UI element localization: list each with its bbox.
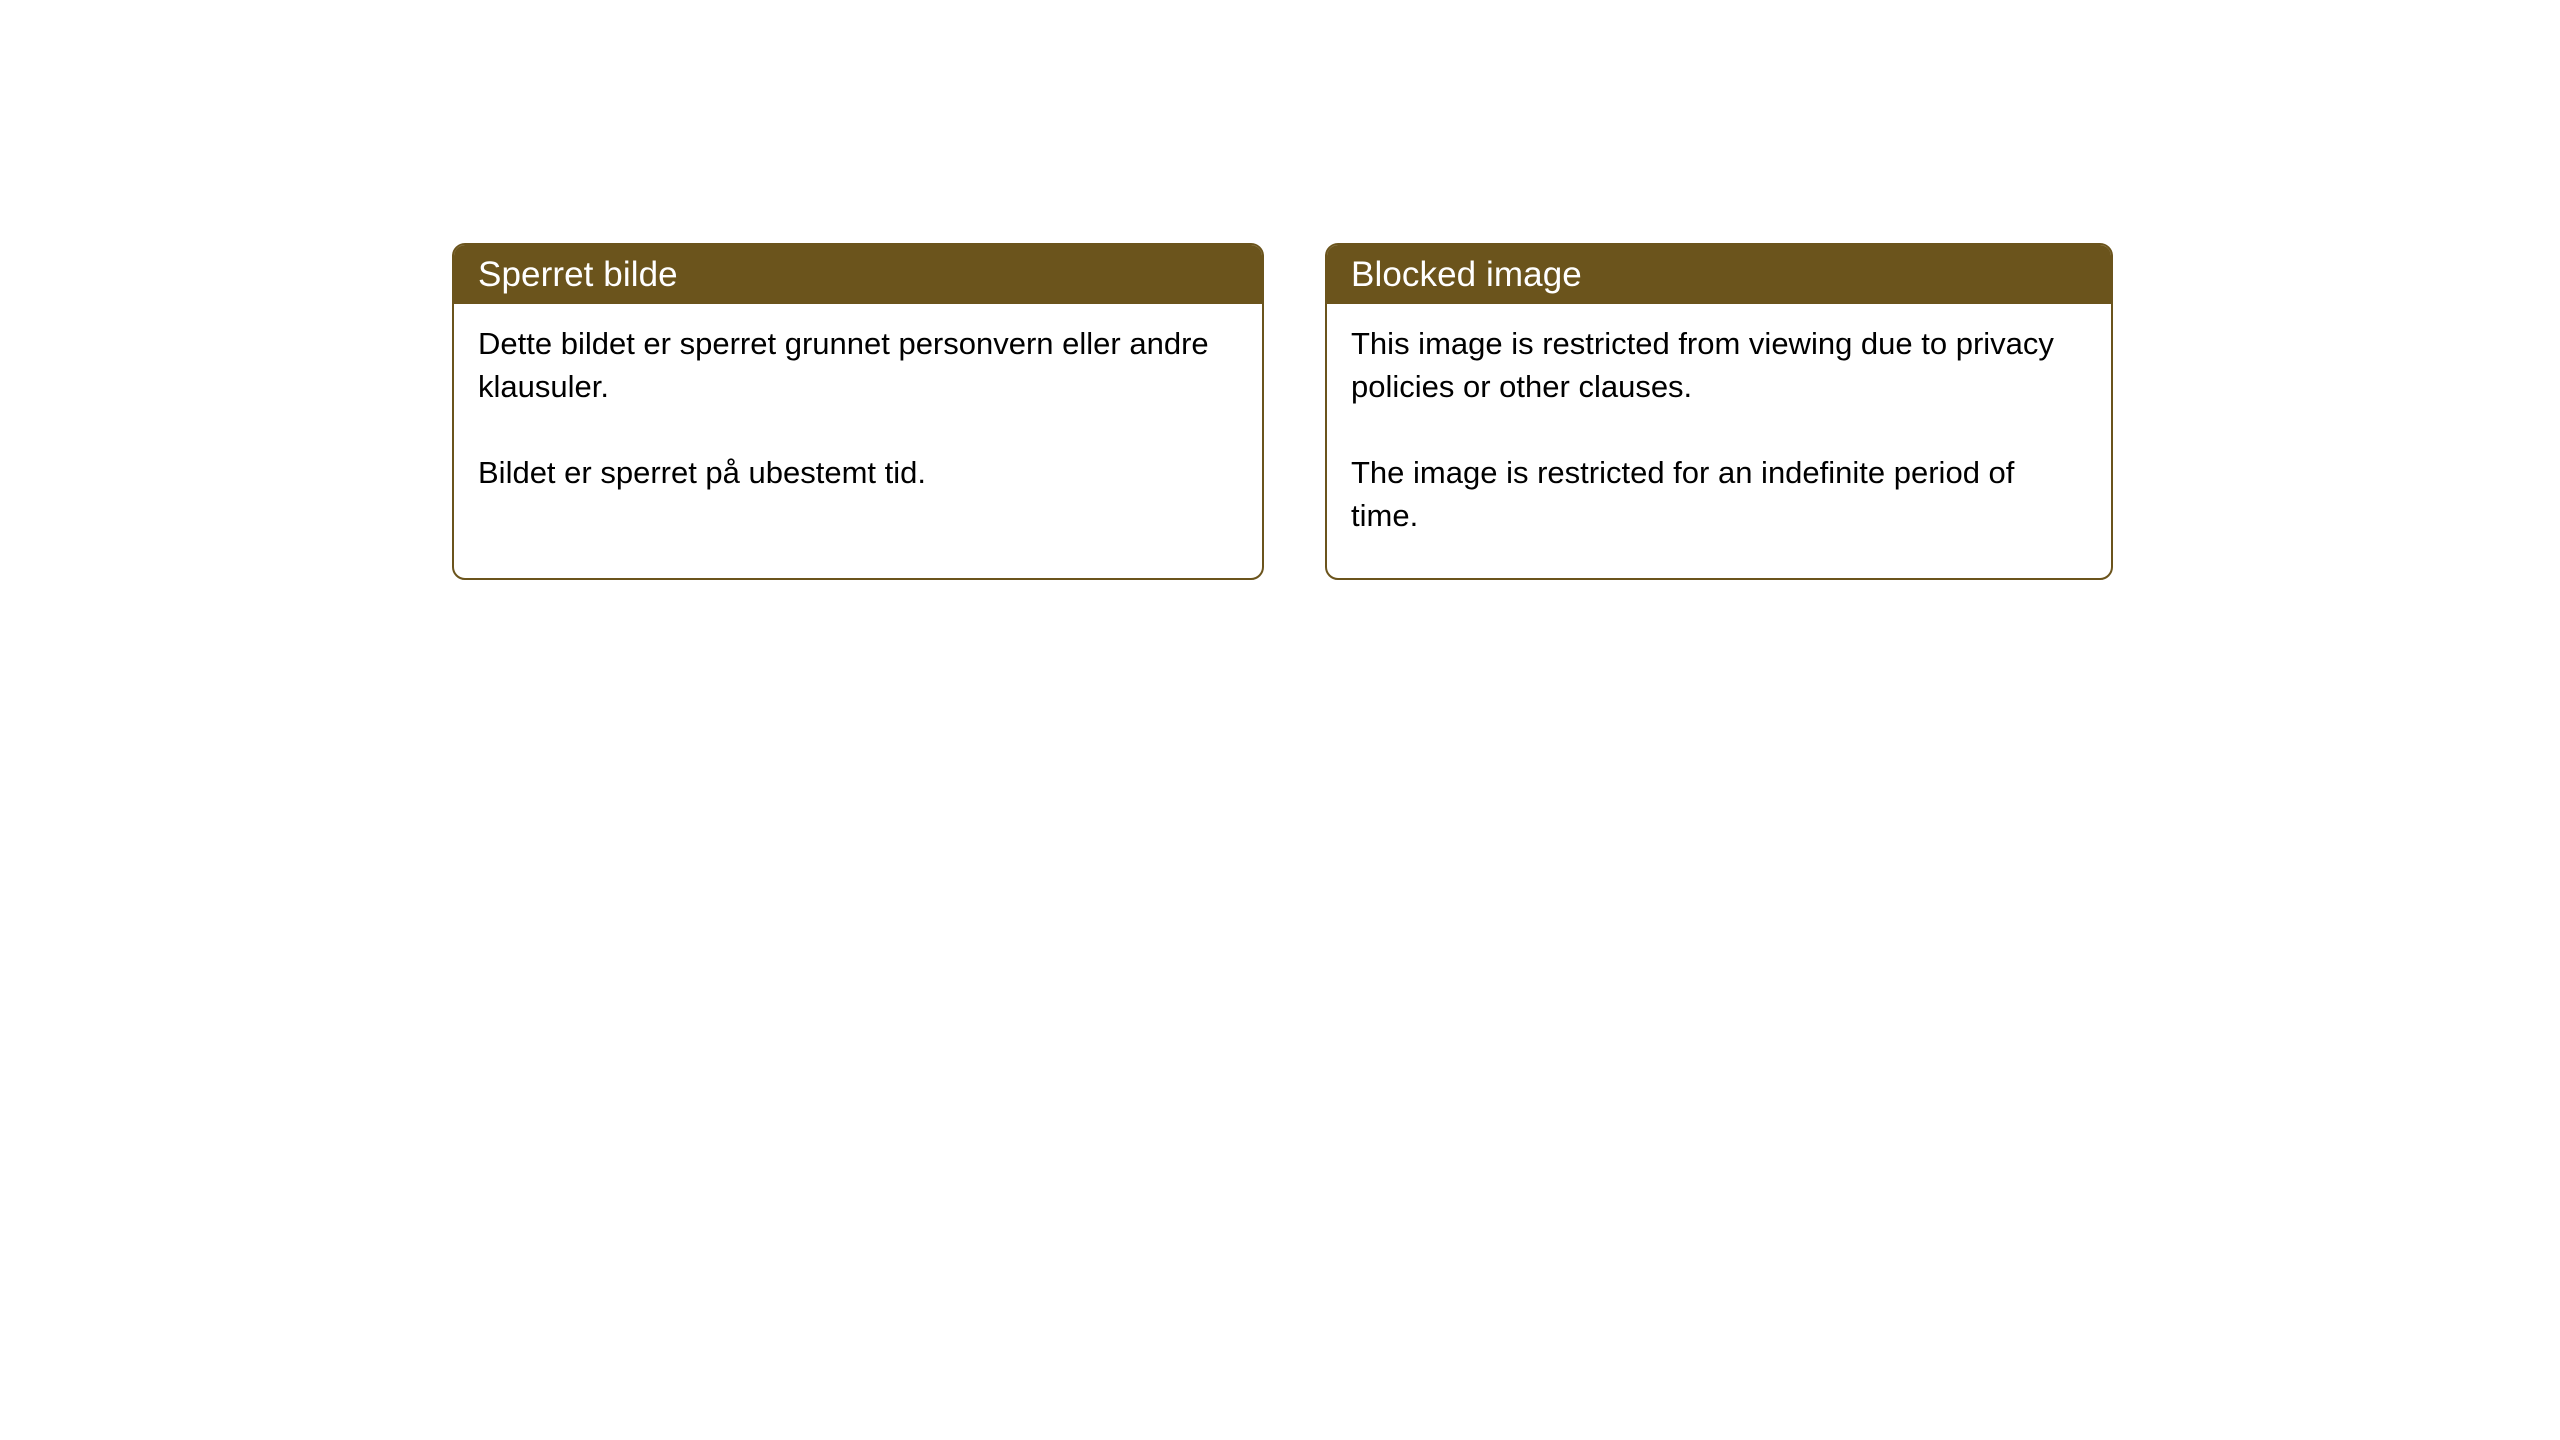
- card-header-norwegian: Sperret bilde: [454, 245, 1262, 304]
- page-canvas: Sperret bilde Dette bildet er sperret gr…: [0, 0, 2560, 1440]
- card-title-norwegian: Sperret bilde: [478, 257, 678, 292]
- card-paragraph-duration-norwegian: Bildet er sperret på ubestemt tid.: [478, 451, 1236, 494]
- card-header-english: Blocked image: [1327, 245, 2111, 304]
- card-title-english: Blocked image: [1351, 257, 1582, 292]
- blocked-image-card-norwegian: Sperret bilde Dette bildet er sperret gr…: [452, 243, 1264, 580]
- card-paragraph-reason-english: This image is restricted from viewing du…: [1351, 322, 2085, 408]
- blocked-image-card-english: Blocked image This image is restricted f…: [1325, 243, 2113, 580]
- card-paragraph-reason-norwegian: Dette bildet er sperret grunnet personve…: [478, 322, 1236, 408]
- card-paragraph-duration-english: The image is restricted for an indefinit…: [1351, 451, 2085, 537]
- card-body-norwegian: Dette bildet er sperret grunnet personve…: [454, 304, 1262, 494]
- card-body-english: This image is restricted from viewing du…: [1327, 304, 2111, 537]
